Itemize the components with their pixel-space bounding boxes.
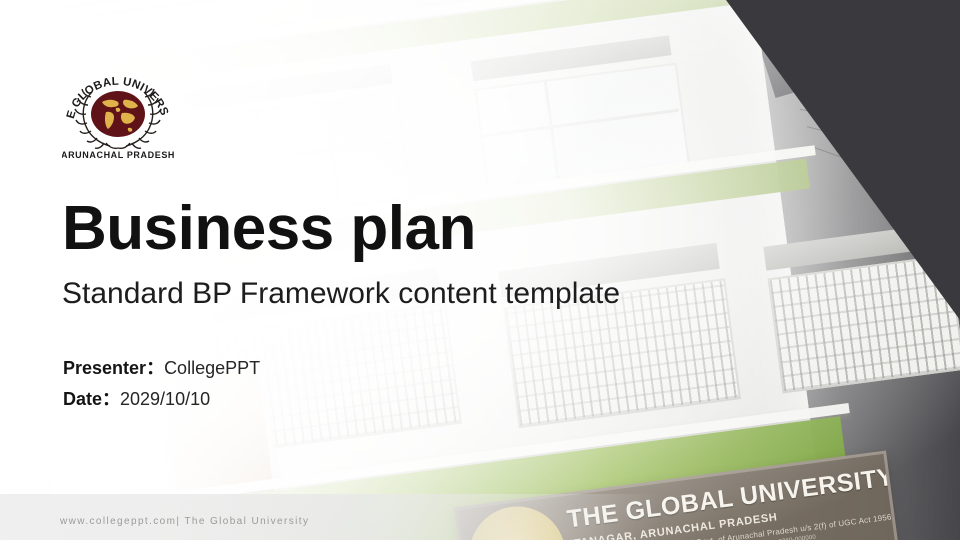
date-label: Date — [63, 389, 102, 409]
logo-ribbon — [106, 143, 130, 148]
presentation-slide: THE GLOBAL UNIVERSITY ITANAGAR, ARUNACHA… — [0, 0, 960, 540]
date-value: 2029/10/10 — [120, 389, 210, 409]
logo-globe — [91, 91, 145, 137]
presenter-row: Presenter：CollegePPT — [63, 355, 260, 383]
university-logo: THE GLOBAL UNIVERSITY — [62, 56, 174, 160]
presenter-label: Presenter — [63, 358, 146, 378]
logo-bottom-text: ARUNACHAL PRADESH — [62, 150, 174, 160]
date-row: Date：2029/10/10 — [63, 386, 260, 414]
slide-title: Business plan — [62, 198, 476, 260]
presenter-value: CollegePPT — [164, 358, 260, 378]
white-arc-band — [252, 0, 960, 540]
slide-subtitle: Standard BP Framework content template — [62, 279, 620, 309]
footer-credit: www.collegeppt.com| The Global Universit… — [60, 516, 309, 527]
presenter-colon: ： — [146, 358, 164, 378]
date-colon: ： — [102, 389, 120, 409]
slide-meta-block: Presenter：CollegePPT Date：2029/10/10 — [63, 355, 260, 414]
